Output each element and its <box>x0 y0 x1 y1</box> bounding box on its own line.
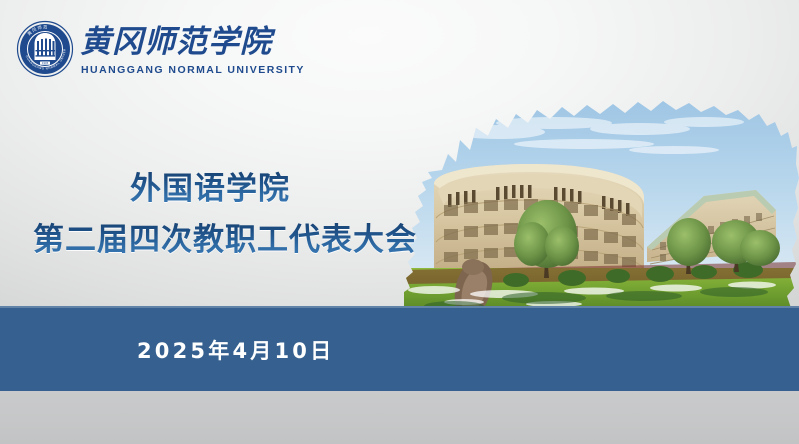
logo-wordmark-english: HUANGGANG NORMAL UNIVERSITY <box>81 64 279 76</box>
slide-title-group: 外国语学院 第二届四次教职工代表大会 <box>0 155 430 265</box>
presentation-slide: 1905 黄冈师范 HUANGGANG NORMAL UNIVERSITY 黄冈… <box>0 0 799 444</box>
logo-wordmark-chinese: 黄冈师范学院 <box>80 20 280 62</box>
campus-building-photo <box>404 92 799 320</box>
page-subtitle: 第二届四次教职工代表大会 <box>33 214 417 259</box>
logo-wordmark-chinese-text: 黄冈师范学院 <box>80 24 276 60</box>
banner-top-divider <box>0 306 799 308</box>
university-seal-icon: 1905 黄冈师范 HUANGGANG NORMAL UNIVERSITY <box>16 20 74 78</box>
date-banner: 2025年4月10日 <box>0 306 799 391</box>
slide-footer-area <box>0 391 799 444</box>
page-title: 外国语学院 <box>130 163 290 208</box>
university-logo: 1905 黄冈师范 HUANGGANG NORMAL UNIVERSITY 黄冈… <box>14 16 284 84</box>
svg-text:1905: 1905 <box>42 61 49 65</box>
event-date: 2025年4月10日 <box>137 335 334 365</box>
